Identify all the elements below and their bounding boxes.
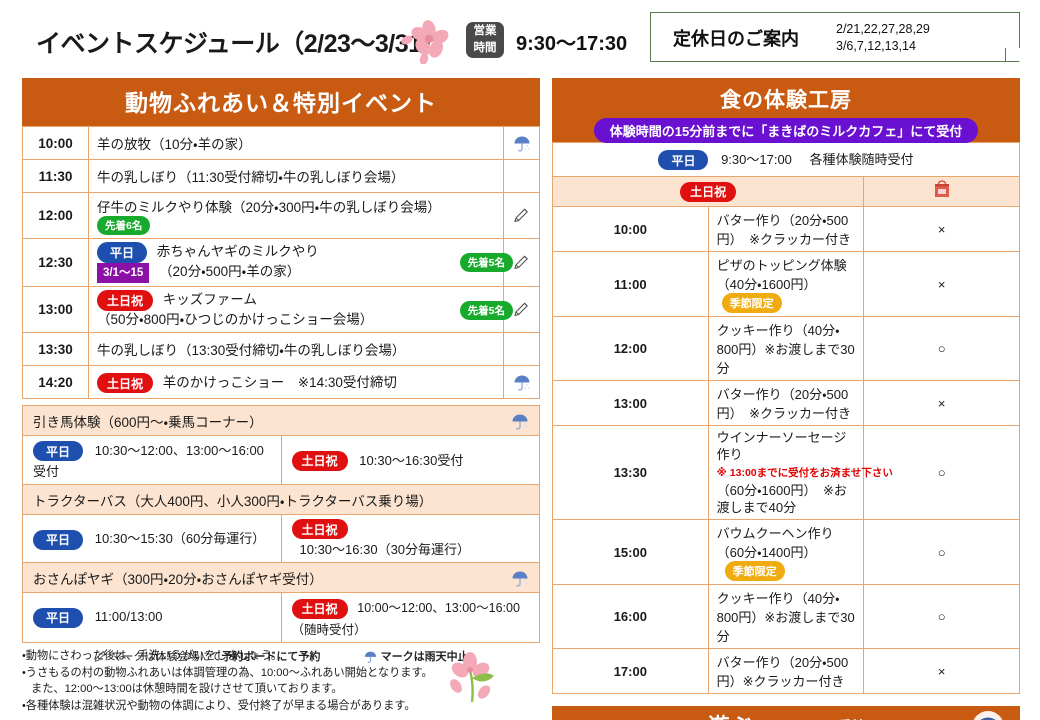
row-time: 10:00 [23, 127, 89, 160]
capacity-badge: 先着5名 [460, 301, 513, 320]
row-mark: × [864, 207, 1020, 252]
row-time: 15:00 [553, 520, 709, 585]
row-time: 17:00 [553, 649, 709, 694]
table-row: 13:00 土日祝 キッズファーム （50分・800円・ひつじのかけっこショー会… [23, 287, 540, 333]
table-row: 12:00 仔牛のミルクやり体験（20分・300円・牛の乳しぼり会場） 先着6名 [23, 193, 540, 239]
weekday-band-row: 平日 9:30～17:00 各種体験随時受付 [553, 143, 1020, 177]
activity-time-row: 平日 10:30～15:30（60分毎運行） 土日祝 10:30～16:30（3… [23, 515, 540, 563]
table-row: 14:20 土日祝 羊のかけっこショー ※14:30受付締切 [23, 366, 540, 399]
row-label: バウムクーヘン作り（60分・1400円） [717, 526, 834, 560]
food-section-header: 食の体験工房 体験時間の15分前までに「まきばのミルクカフェ」にて受付 [552, 78, 1020, 142]
table-row: 16:00 クッキー作り（40分・800円）※お渡しまで30分 ○ [553, 585, 1020, 649]
row-time: 13:30 [23, 333, 89, 366]
weekday-badge: 平日 [97, 242, 147, 263]
food-workshop-panel: 食の体験工房 体験時間の15分前までに「まきばのミルクカフェ」にて受付 平日 9… [552, 78, 1020, 720]
row-text: 平日 赤ちゃんヤギのミルクやり 3/1～15 （20分・500円・羊の家） [89, 239, 504, 287]
umbrella-icon [971, 710, 1005, 720]
row-icon-cell [504, 366, 540, 399]
activity-title-row: おさんぽヤギ（300円・20分・おさんぽヤギ受付） [23, 563, 540, 593]
animal-events-panel: 動物ふれあい＆特別イベント 10:00 羊の放牧（10分・羊の家） [22, 78, 540, 664]
row-label-line2: （60分・1600円） ※お渡しまで40分 [717, 482, 856, 516]
holiday-band-row: 土日祝 [553, 177, 1020, 207]
row-time: 11:30 [23, 160, 89, 193]
holiday-notice-box: 定休日のご案内 2/21,22,27,28,29 3/6,7,12,13,14 [650, 12, 1020, 62]
row-icon-cell [504, 160, 540, 193]
row-text: クッキー作り（40分・800円）※お渡しまで30分 [708, 585, 864, 649]
event-schedule-page: イベントスケジュール（2/23～3/31） 営業 時間 9:30～17:30 定… [0, 0, 1040, 720]
row-time: 13:00 [553, 381, 709, 426]
row-text: バター作り（20分・500円） ※クラッカー付き [708, 381, 864, 426]
weekday-time: 9:30～17:00 [721, 152, 792, 167]
holiday-badge: 土日祝 [680, 182, 736, 202]
umbrella-icon [512, 372, 532, 392]
business-hours-chip: 営業 時間 [466, 22, 504, 58]
row-text: バター作り（20分・500円） ※クラッカー付き [708, 207, 864, 252]
holiday-notice-dates: 2/21,22,27,28,29 3/6,7,12,13,14 [836, 21, 930, 55]
row-time: 11:00 [553, 252, 709, 317]
food-section-title: 食の体験工房 [553, 84, 1019, 114]
holiday-time: 10:30～16:30受付 [359, 453, 463, 468]
weekday-time: 11:00/13:00 [95, 609, 163, 624]
row-mark: ○ [864, 520, 1020, 585]
row-time: 16:00 [553, 585, 709, 649]
row-icon-cell [504, 127, 540, 160]
row-label-line1: ウインナーソーセージ作り [717, 430, 847, 462]
weekday-badge: 平日 [33, 608, 83, 628]
row-label: ピザのトッピング体験（40分・1600円） [717, 258, 847, 292]
activity-title: 引き馬体験（600円～・乗馬コーナー） [33, 415, 263, 430]
table-row: 13:00 バター作り（20分・500円） ※クラッカー付き × [553, 381, 1020, 426]
page-title: イベントスケジュール（2/23～3/31） [36, 24, 446, 60]
season-badge: 季節限定 [722, 293, 782, 313]
row-icon-cell: 先着5名 [504, 287, 540, 333]
business-chip-line2: 時間 [466, 40, 504, 57]
row-text: クッキー作り（40分・800円）※お渡しまで30分 [708, 317, 864, 381]
row-text: バター作り（20分・500円）※クラッカー付き [708, 649, 864, 694]
row-label: 羊のかけっこショー ※14:30受付締切 [163, 375, 397, 390]
takeout-column-header [864, 177, 1020, 207]
row-mark: × [864, 381, 1020, 426]
table-row: 13:30 ウインナーソーセージ作り※ 13:00までに受付をお済ませ下さい （… [553, 426, 1020, 520]
takeout-bag-icon [933, 180, 951, 200]
row-label: 仔牛のミルクやり体験（20分・300円・牛の乳しぼり会場） [97, 200, 441, 215]
row-text: バウムクーヘン作り（60分・1400円） 季節限定 [708, 520, 864, 585]
table-row: 13:30 牛の乳しぼり（13:30受付締切・牛の乳しぼり会場） [23, 333, 540, 366]
holiday-badge: 土日祝 [292, 519, 348, 539]
weekday-time: 10:30～15:30（60分毎運行） [95, 531, 266, 546]
row-time: 14:20 [23, 366, 89, 399]
date-range-badge: 3/1～15 [97, 263, 149, 283]
row-icon-cell [504, 193, 540, 239]
table-row: 12:00 クッキー作り（40分・800円）※お渡しまで30分 ○ [553, 317, 1020, 381]
animal-section-title: 動物ふれあい＆特別イベント [22, 78, 540, 126]
row-icon-cell [504, 333, 540, 366]
pencil-icon [512, 253, 531, 272]
activity-title-row: 引き馬体験（600円～・乗馬コーナー） [23, 406, 540, 436]
row-label-line2: （50分・800円・ひつじのかけっこショー会場） [97, 311, 495, 329]
holiday-notice-label: 定休日のご案内 [673, 25, 799, 51]
table-row: 10:00 羊の放牧（10分・羊の家） [23, 127, 540, 160]
activity-title: トラクターバス（大人400円、小人300円・トラクターバス乗り場） [23, 485, 540, 515]
pencil-icon [512, 206, 531, 225]
table-row: 15:00 バウムクーヘン作り（60分・1400円） 季節限定 ○ [553, 520, 1020, 585]
row-time: 10:00 [553, 207, 709, 252]
row-time: 12:00 [23, 193, 89, 239]
play-section-title: 遊ぶ [709, 715, 753, 720]
weekday-badge: 平日 [658, 150, 708, 170]
row-mark: ○ [864, 317, 1020, 381]
holiday-dates-line2: 3/6,7,12,13,14 [836, 38, 930, 55]
row-label-line2: （20分・500円・羊の家） [159, 264, 300, 279]
umbrella-icon [510, 568, 530, 588]
row-text: 仔牛のミルクやり体験（20分・300円・牛の乳しぼり会場） 先着6名 [89, 193, 504, 239]
table-row: 12:30 平日 赤ちゃんヤギのミルクやり 3/1～15 （20分・500円・羊… [23, 239, 540, 287]
row-time: 12:30 [23, 239, 89, 287]
holiday-badge: 土日祝 [97, 373, 153, 393]
activity-title-row: トラクターバス（大人400円、小人300円・トラクターバス乗り場） [23, 485, 540, 515]
animal-events-table: 10:00 羊の放牧（10分・羊の家） 11:30 牛の乳しぼり（11 [22, 126, 540, 399]
row-icon-cell: 先着5名 [504, 239, 540, 287]
capacity-badge: 先着5名 [460, 253, 513, 272]
activity-title: おさんぽヤギ（300円・20分・おさんぽヤギ受付） [33, 572, 323, 587]
activity-time-row: 平日 11:00/13:00 土日祝 10:00～12:00、13:00～16:… [23, 593, 540, 642]
business-hours-value: 9:30～17:30 [516, 27, 627, 56]
row-mark: ○ [864, 585, 1020, 649]
row-text: 牛の乳しぼり（11:30受付締切・牛の乳しぼり会場） [89, 160, 504, 193]
umbrella-icon [512, 133, 532, 153]
row-time: 13:00 [23, 287, 89, 333]
table-row: 17:00 バター作り（20分・500円）※クラッカー付き × [553, 649, 1020, 694]
food-workshop-table: 平日 9:30～17:00 各種体験随時受付 土日祝 [552, 142, 1020, 694]
umbrella-icon [510, 411, 530, 431]
row-label-line1: キッズファーム [163, 292, 257, 307]
holiday-time: 10:30～16:30（30分毎運行） [300, 542, 471, 557]
holiday-badge: 土日祝 [97, 290, 153, 311]
row-text: 土日祝 羊のかけっこショー ※14:30受付締切 [89, 366, 504, 399]
sakura-flower-icon [400, 18, 452, 64]
play-section: 遊ぶ 9:30～15:30受付 羊飼いのゴルフ(300円) スポーツ吹き矢(30… [552, 706, 1020, 720]
food-section-banner-wrap: 体験時間の15分前までに「まきばのミルクカフェ」にて受付 [553, 118, 1019, 143]
row-text: ウインナーソーセージ作り※ 13:00までに受付をお済ませ下さい （60分・16… [708, 426, 864, 520]
table-row: 10:00 バター作り（20分・500円） ※クラッカー付き × [553, 207, 1020, 252]
weekday-badge: 平日 [33, 530, 83, 550]
row-time: 12:00 [553, 317, 709, 381]
weekday-note: 各種体験随時受付 [810, 152, 914, 167]
table-row: 11:30 牛の乳しぼり（11:30受付締切・牛の乳しぼり会場） [23, 160, 540, 193]
holiday-badge: 土日祝 [292, 451, 348, 471]
activity-time-row: 平日 10:30～12:00、13:00～16:00受付 土日祝 10:30～1… [23, 436, 540, 485]
holiday-badge: 土日祝 [292, 599, 348, 619]
holiday-dates-line1: 2/21,22,27,28,29 [836, 21, 930, 38]
ride-activities-table: 引き馬体験（600円～・乗馬コーナー） 平日 10:30～12:00、13:00… [22, 405, 540, 643]
weekday-badge: 平日 [33, 441, 83, 461]
pencil-icon [512, 300, 531, 319]
row-text: ピザのトッピング体験（40分・1600円） 季節限定 [708, 252, 864, 317]
row-label-line1: 赤ちゃんヤギのミルクやり [157, 244, 319, 259]
capacity-badge: 先着6名 [97, 216, 150, 235]
row-red-note: ※ 13:00までに受付をお済ませ下さい [717, 467, 893, 479]
row-mark: × [864, 252, 1020, 317]
page-header: イベントスケジュール（2/23～3/31） 営業 時間 9:30～17:30 定… [0, 0, 1040, 68]
row-text: 羊の放牧（10分・羊の家） [89, 127, 504, 160]
reservation-banner: 体験時間の15分前までに「まきばのミルクカフェ」にて受付 [594, 118, 978, 143]
play-section-header: 遊ぶ 9:30～15:30受付 [552, 706, 1020, 720]
row-time: 13:30 [553, 426, 709, 520]
business-chip-line1: 営業 [466, 23, 504, 40]
season-badge: 季節限定 [725, 561, 785, 581]
row-mark: × [864, 649, 1020, 694]
row-text: 牛の乳しぼり（13:30受付締切・牛の乳しぼり会場） [89, 333, 504, 366]
row-text: 土日祝 キッズファーム （50分・800円・ひつじのかけっこショー会場） [89, 287, 504, 333]
sakura-flower-icon [440, 650, 504, 710]
table-row: 11:00 ピザのトッピング体験（40分・1600円） 季節限定 × [553, 252, 1020, 317]
